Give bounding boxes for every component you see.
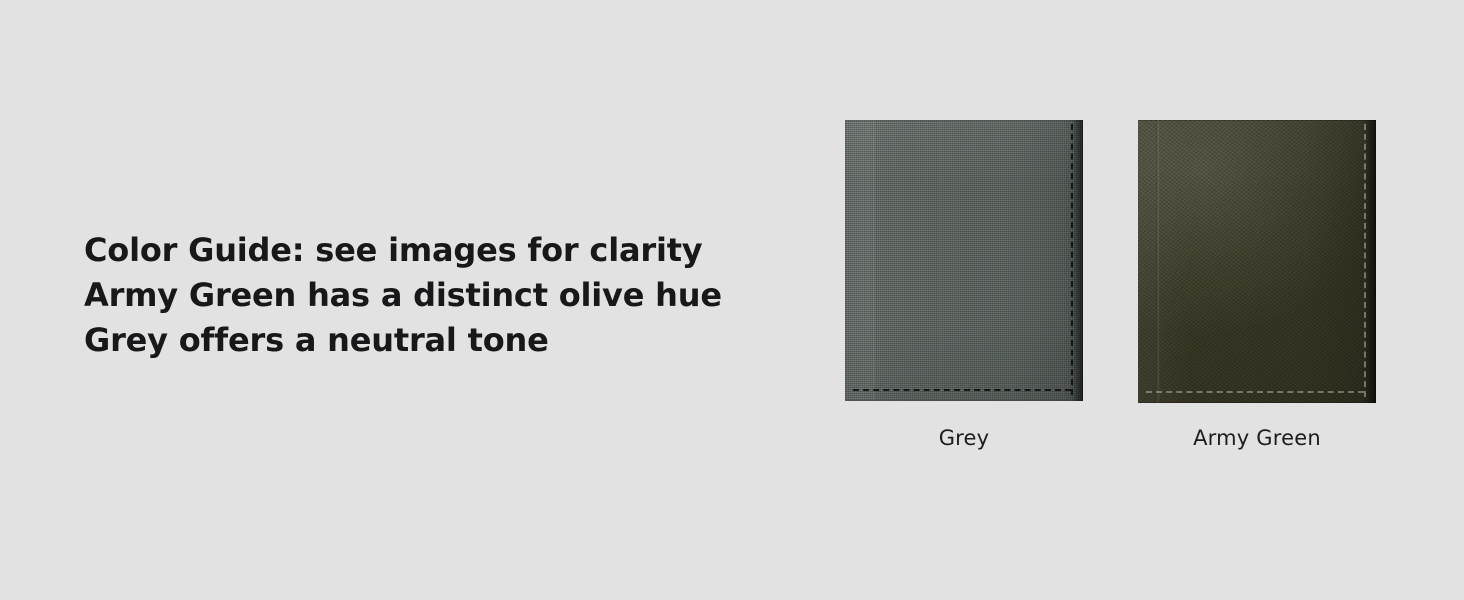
- fold-crease-secondary-line: [939, 120, 941, 401]
- wallet-spine-shadow: [1073, 120, 1083, 401]
- fold-crease-line: [872, 120, 875, 401]
- color-swatch-army-green[interactable]: Army Green: [1138, 120, 1376, 403]
- swatch-label-army-green: Army Green: [1138, 426, 1376, 450]
- wallet-photo-army-green: [1138, 120, 1376, 403]
- wallet-body-grey: [845, 120, 1083, 401]
- copy-line-3: Grey offers a neutral tone: [84, 318, 804, 363]
- color-guide-copy: Color Guide: see images for clarity Army…: [84, 228, 804, 363]
- product-color-guide-banner: Color Guide: see images for clarity Army…: [0, 0, 1464, 600]
- wallet-body-army-green: [1138, 120, 1376, 403]
- wallet-spine-shadow: [1366, 120, 1376, 403]
- wallet-photo-grey: [845, 120, 1083, 401]
- copy-line-2: Army Green has a distinct olive hue: [84, 273, 804, 318]
- color-swatch-grey[interactable]: Grey: [845, 120, 1083, 401]
- swatch-label-grey: Grey: [845, 426, 1083, 450]
- color-swatch-gallery: Grey Army Green: [845, 120, 1405, 470]
- fold-crease-line: [1156, 120, 1160, 403]
- copy-line-1: Color Guide: see images for clarity: [84, 228, 804, 273]
